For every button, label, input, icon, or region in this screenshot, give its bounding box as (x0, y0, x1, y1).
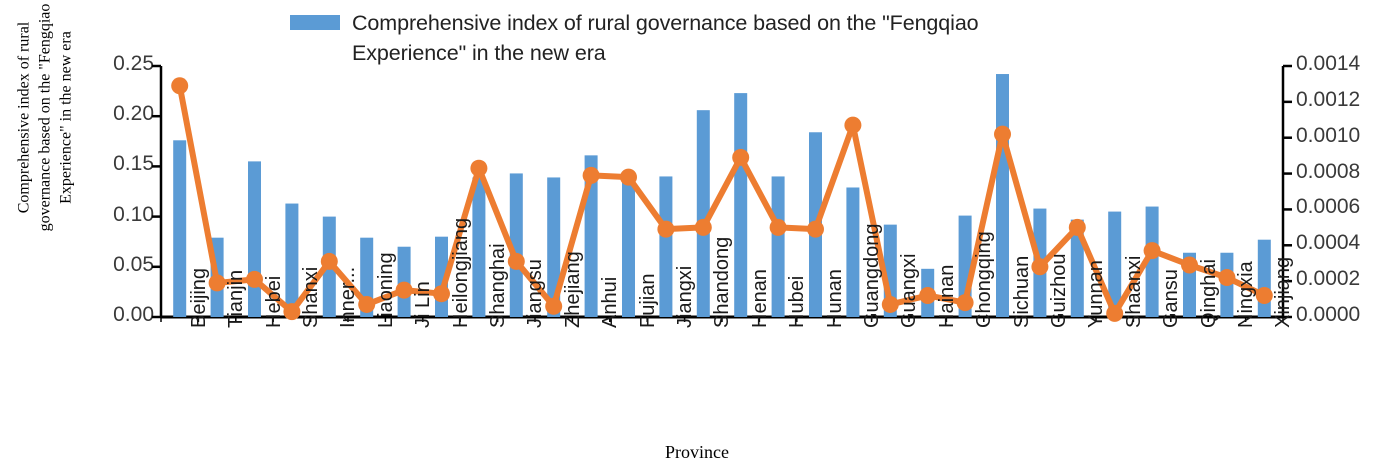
x-axis-category-labels: BeijingTianjinHebeiShanxiInner...Liaonin… (0, 322, 1394, 442)
line-marker (1256, 287, 1273, 304)
bar (285, 204, 298, 317)
x-axis-category-label: Hubei (786, 276, 809, 328)
x-axis-category-label: Qinghai (1198, 259, 1221, 328)
x-axis-category-label: Ningxia (1235, 261, 1258, 328)
x-axis-category-label: Shaanxi (1123, 256, 1146, 328)
x-axis-category-label: Guangdong (861, 223, 884, 328)
line-marker (209, 274, 226, 291)
x-axis-category-label: Heilongjiang (450, 218, 473, 328)
x-axis-category-label: Shanghai (487, 243, 510, 328)
line-marker (1106, 305, 1123, 322)
line-marker (358, 296, 375, 313)
line-marker (844, 117, 861, 134)
line-marker (583, 167, 600, 184)
x-axis-category-label: Hunan (824, 269, 847, 328)
bar (622, 178, 635, 317)
bar (996, 74, 1009, 317)
x-axis-category-label: Tianjin (225, 270, 248, 328)
line-marker (321, 253, 338, 270)
line-marker (657, 221, 674, 238)
line-marker (396, 282, 413, 299)
line-marker (620, 169, 637, 186)
x-axis-title: Province (0, 442, 1394, 463)
line-marker (882, 296, 899, 313)
line-marker (770, 219, 787, 236)
x-axis-category-label: Gansu (1160, 269, 1183, 328)
x-axis-category-label: Chongqing (973, 231, 996, 328)
x-axis-category-label: Liaoning (375, 252, 398, 328)
x-axis-category-label: Fujian (637, 274, 660, 328)
line-marker (994, 126, 1011, 143)
x-axis-category-label: Shanxi (300, 267, 323, 328)
line-marker (508, 253, 525, 270)
bar (846, 187, 859, 317)
bar (1258, 240, 1271, 317)
line-marker (732, 149, 749, 166)
x-axis-category-label: Beijing (188, 268, 211, 328)
bar (734, 93, 747, 317)
line-marker (919, 287, 936, 304)
bar (472, 177, 485, 317)
line-marker (246, 271, 263, 288)
x-axis-category-label: Jiangsu (524, 259, 547, 328)
x-axis-category-label: Shandong (711, 237, 734, 328)
x-axis-category-label: Inner... (337, 267, 360, 328)
x-axis-category-label: Anhui (599, 277, 622, 328)
line-marker (1069, 219, 1086, 236)
line-marker (171, 77, 188, 94)
x-axis-category-label: Henan (749, 269, 772, 328)
line-marker (433, 285, 450, 302)
line-marker (807, 221, 824, 238)
x-axis-category-label: Sichuan (1011, 256, 1034, 328)
line-marker (1144, 242, 1161, 259)
line-marker (545, 298, 562, 315)
line-marker (957, 294, 974, 311)
chart-container: Comprehensive index of rural governance … (0, 0, 1394, 476)
x-axis-category-label: Zhejiang (562, 251, 585, 328)
x-axis-category-label: Hainan (936, 265, 959, 328)
line-marker (695, 219, 712, 236)
x-axis-category-label: Guizhou (1048, 254, 1071, 329)
x-axis-category-label: Yunnan (1085, 260, 1108, 328)
x-axis-category-label: Jiangxi (674, 266, 697, 328)
bar (173, 140, 186, 317)
line-marker (1181, 257, 1198, 274)
bar (659, 176, 672, 317)
x-axis-category-label: Guangxi (898, 254, 921, 329)
x-axis-category-label: Ji Lin (412, 281, 435, 328)
bar (772, 176, 785, 317)
x-axis-category-label: Hebei (263, 276, 286, 328)
bar (248, 161, 261, 317)
x-axis-category-label: Xinjiang (1272, 257, 1295, 328)
line-marker (470, 160, 487, 177)
